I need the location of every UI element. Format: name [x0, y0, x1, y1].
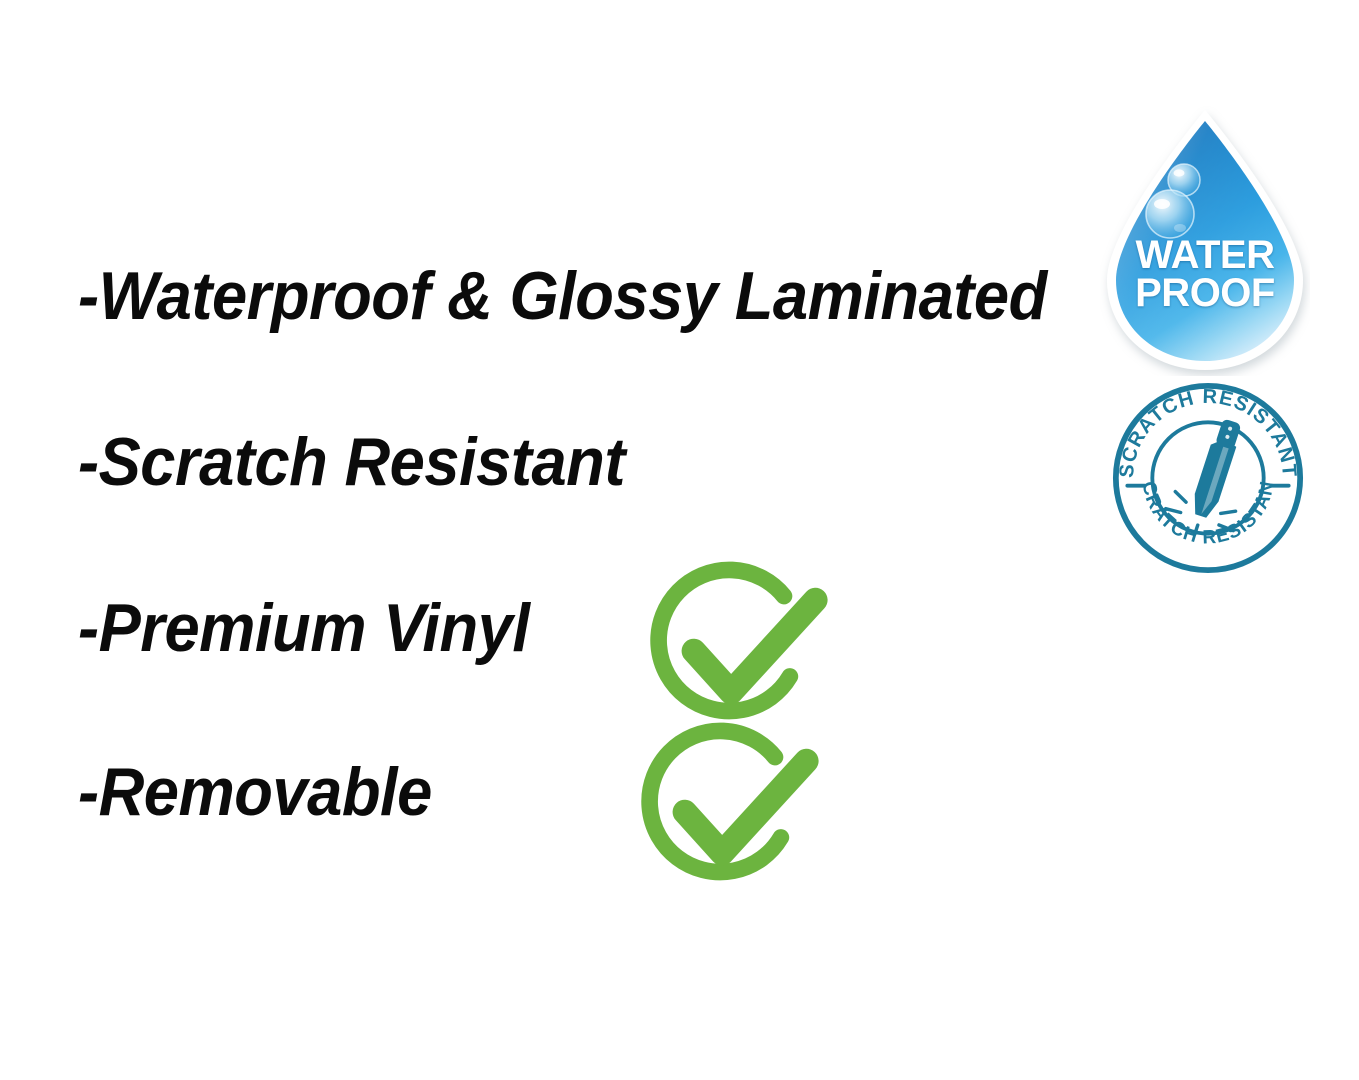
water-bubble-icon — [1146, 190, 1194, 238]
waterproof-badge: WATER PROOF — [1100, 104, 1310, 376]
water-drop-icon — [1100, 104, 1310, 376]
feature-label-premium-vinyl: -Premium Vinyl — [78, 594, 530, 662]
feature-row-premium-vinyl: -Premium Vinyl — [78, 594, 564, 662]
scratch-resistant-badge: SCRATCH RESISTANT SCRATCH RESISTANT — [1112, 382, 1304, 574]
knife-stamp-icon: SCRATCH RESISTANT SCRATCH RESISTANT — [1112, 382, 1304, 574]
checkmark-removable — [628, 712, 824, 908]
feature-label-removable: -Removable — [78, 758, 432, 826]
check-circle-icon — [628, 712, 824, 908]
feature-row-removable: -Removable — [78, 758, 458, 826]
feature-label-scratch-resistant: -Scratch Resistant — [78, 428, 625, 496]
feature-row-scratch-resistant: -Scratch Resistant — [78, 428, 666, 496]
feature-list-graphic: -Waterproof & Glossy Laminated -Scratch … — [0, 0, 1359, 1080]
feature-label-waterproof: -Waterproof & Glossy Laminated — [78, 262, 1047, 330]
water-drop-sheen — [1116, 121, 1294, 361]
feature-row-waterproof: -Waterproof & Glossy Laminated — [78, 262, 1120, 330]
